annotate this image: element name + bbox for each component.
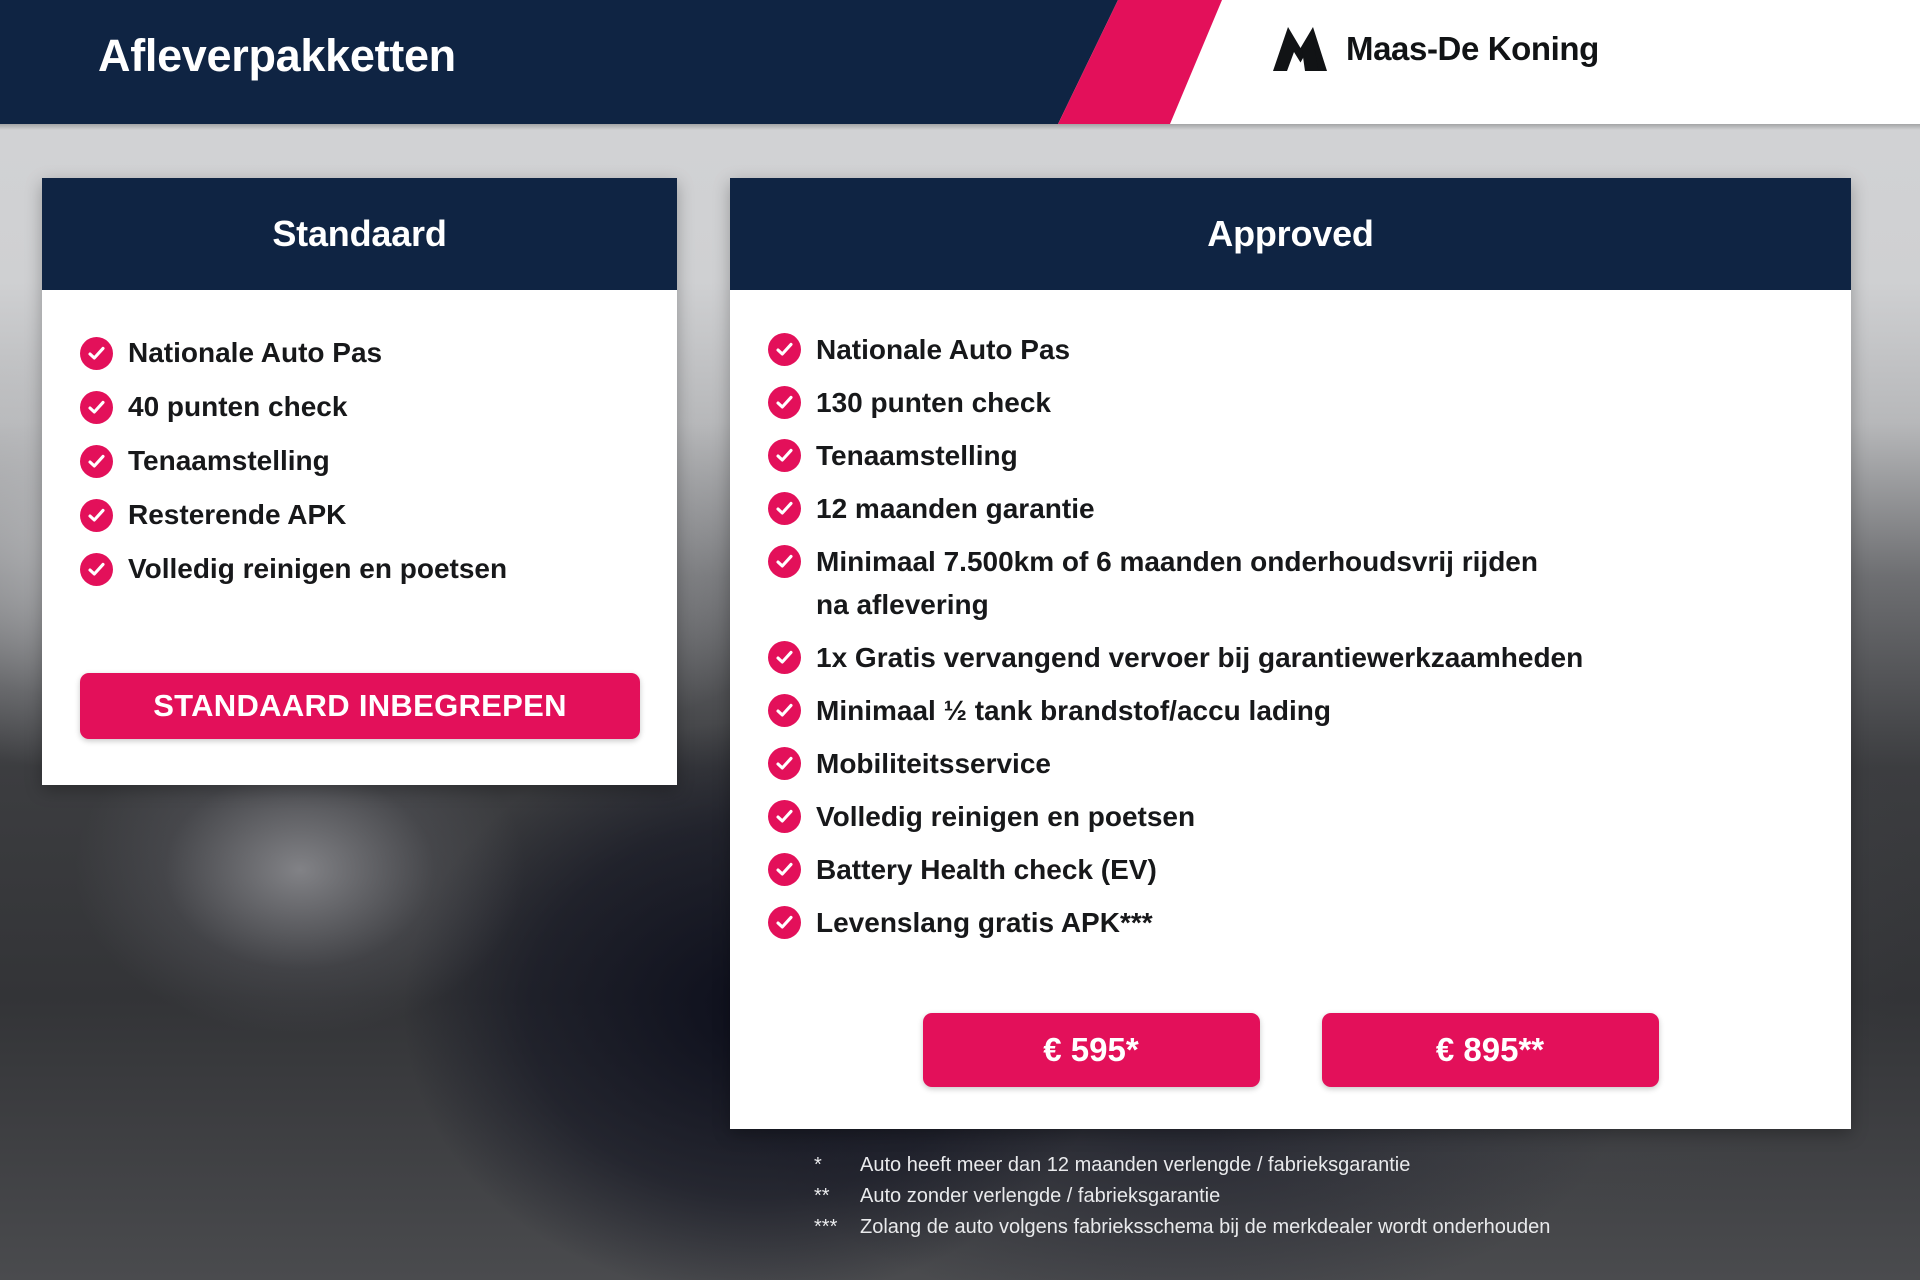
feature-label: 1x Gratis vervangend vervoer bij garanti… <box>816 636 1583 679</box>
feature-label: Nationale Auto Pas <box>128 333 382 373</box>
footnote-marker: * <box>814 1150 860 1181</box>
feature-label: Tenaamstelling <box>128 441 330 481</box>
feature-list-approved: Nationale Auto Pas 130 punten check Tena… <box>768 328 1851 944</box>
check-circle-icon <box>768 641 801 674</box>
price-button-595[interactable]: € 595* <box>923 1013 1260 1087</box>
list-item: 12 maanden garantie <box>768 487 1851 530</box>
feature-label: Tenaamstelling <box>816 434 1018 477</box>
feature-label: Nationale Auto Pas <box>816 328 1070 371</box>
footnote-marker: *** <box>814 1212 860 1243</box>
footnote-single-asterisk: * Auto heeft meer dan 12 maanden verleng… <box>814 1150 1550 1181</box>
list-item: Nationale Auto Pas <box>80 333 677 373</box>
price-button-row: € 595* € 895** <box>730 1013 1851 1087</box>
list-item: Minimaal 7.500km of 6 maanden onderhouds… <box>768 540 1851 626</box>
check-circle-icon <box>80 445 113 478</box>
price-button-895[interactable]: € 895** <box>1322 1013 1659 1087</box>
feature-label: Minimaal ½ tank brandstof/accu lading <box>816 689 1331 732</box>
check-circle-icon <box>768 386 801 419</box>
footnote-double-asterisk: ** Auto zonder verlengde / fabrieksgaran… <box>814 1181 1550 1212</box>
feature-label: Battery Health check (EV) <box>816 848 1157 891</box>
footnote-text: Zolang de auto volgens fabrieksschema bi… <box>860 1212 1550 1243</box>
list-item: 1x Gratis vervangend vervoer bij garanti… <box>768 636 1851 679</box>
list-item: Mobiliteitsservice <box>768 742 1851 785</box>
feature-label: Resterende APK <box>128 495 346 535</box>
list-item: Tenaamstelling <box>80 441 677 481</box>
check-circle-icon <box>768 800 801 833</box>
list-item: 40 punten check <box>80 387 677 427</box>
check-circle-icon <box>80 553 113 586</box>
feature-label: Levenslang gratis APK*** <box>816 901 1153 944</box>
package-title-approved: Approved <box>1207 213 1373 255</box>
feature-label: Volledig reinigen en poetsen <box>816 795 1195 838</box>
check-circle-icon <box>80 337 113 370</box>
page-banner: Afleverpakketten Maas-De Koning <box>0 0 1920 124</box>
list-item: 130 punten check <box>768 381 1851 424</box>
feature-label: 12 maanden garantie <box>816 487 1095 530</box>
list-item: Minimaal ½ tank brandstof/accu lading <box>768 689 1851 732</box>
package-header-approved: Approved <box>730 178 1851 290</box>
feature-list-standaard: Nationale Auto Pas 40 punten check Tenaa… <box>80 333 677 589</box>
check-circle-icon <box>768 545 801 578</box>
feature-label: Volledig reinigen en poetsen <box>128 549 507 589</box>
standaard-inbegrepen-button[interactable]: STANDAARD INBEGREPEN <box>80 673 640 739</box>
feature-label: 130 punten check <box>816 381 1051 424</box>
feature-label: Mobiliteitsservice <box>816 742 1051 785</box>
check-circle-icon <box>80 391 113 424</box>
footnotes: * Auto heeft meer dan 12 maanden verleng… <box>814 1150 1550 1243</box>
package-header-standaard: Standaard <box>42 178 677 290</box>
check-circle-icon <box>768 439 801 472</box>
package-card-approved: Approved Nationale Auto Pas 130 punten c… <box>730 178 1851 1129</box>
banner-drop-shadow <box>0 124 1920 130</box>
check-circle-icon <box>80 499 113 532</box>
check-circle-icon <box>768 747 801 780</box>
maas-de-koning-m-logo-icon <box>1272 26 1328 72</box>
footnote-text: Auto heeft meer dan 12 maanden verlengde… <box>860 1150 1410 1181</box>
check-circle-icon <box>768 853 801 886</box>
list-item: Volledig reinigen en poetsen <box>768 795 1851 838</box>
check-circle-icon <box>768 333 801 366</box>
brand-name: Maas-De Koning <box>1346 30 1599 68</box>
list-item: Resterende APK <box>80 495 677 535</box>
package-card-standaard: Standaard Nationale Auto Pas 40 punten c… <box>42 178 677 785</box>
footnote-text: Auto zonder verlengde / fabrieksgarantie <box>860 1181 1220 1212</box>
check-circle-icon <box>768 492 801 525</box>
footnote-triple-asterisk: *** Zolang de auto volgens fabrieksschem… <box>814 1212 1550 1243</box>
footnote-marker: ** <box>814 1181 860 1212</box>
package-title-standaard: Standaard <box>272 213 446 255</box>
check-circle-icon <box>768 906 801 939</box>
feature-label: Minimaal 7.500km of 6 maanden onderhouds… <box>816 540 1561 626</box>
page-title: Afleverpakketten <box>98 30 456 82</box>
list-item: Volledig reinigen en poetsen <box>80 549 677 589</box>
feature-label: 40 punten check <box>128 387 347 427</box>
list-item: Nationale Auto Pas <box>768 328 1851 371</box>
check-circle-icon <box>768 694 801 727</box>
list-item: Tenaamstelling <box>768 434 1851 477</box>
list-item: Battery Health check (EV) <box>768 848 1851 891</box>
list-item: Levenslang gratis APK*** <box>768 901 1851 944</box>
brand-logo: Maas-De Koning <box>1272 26 1599 72</box>
